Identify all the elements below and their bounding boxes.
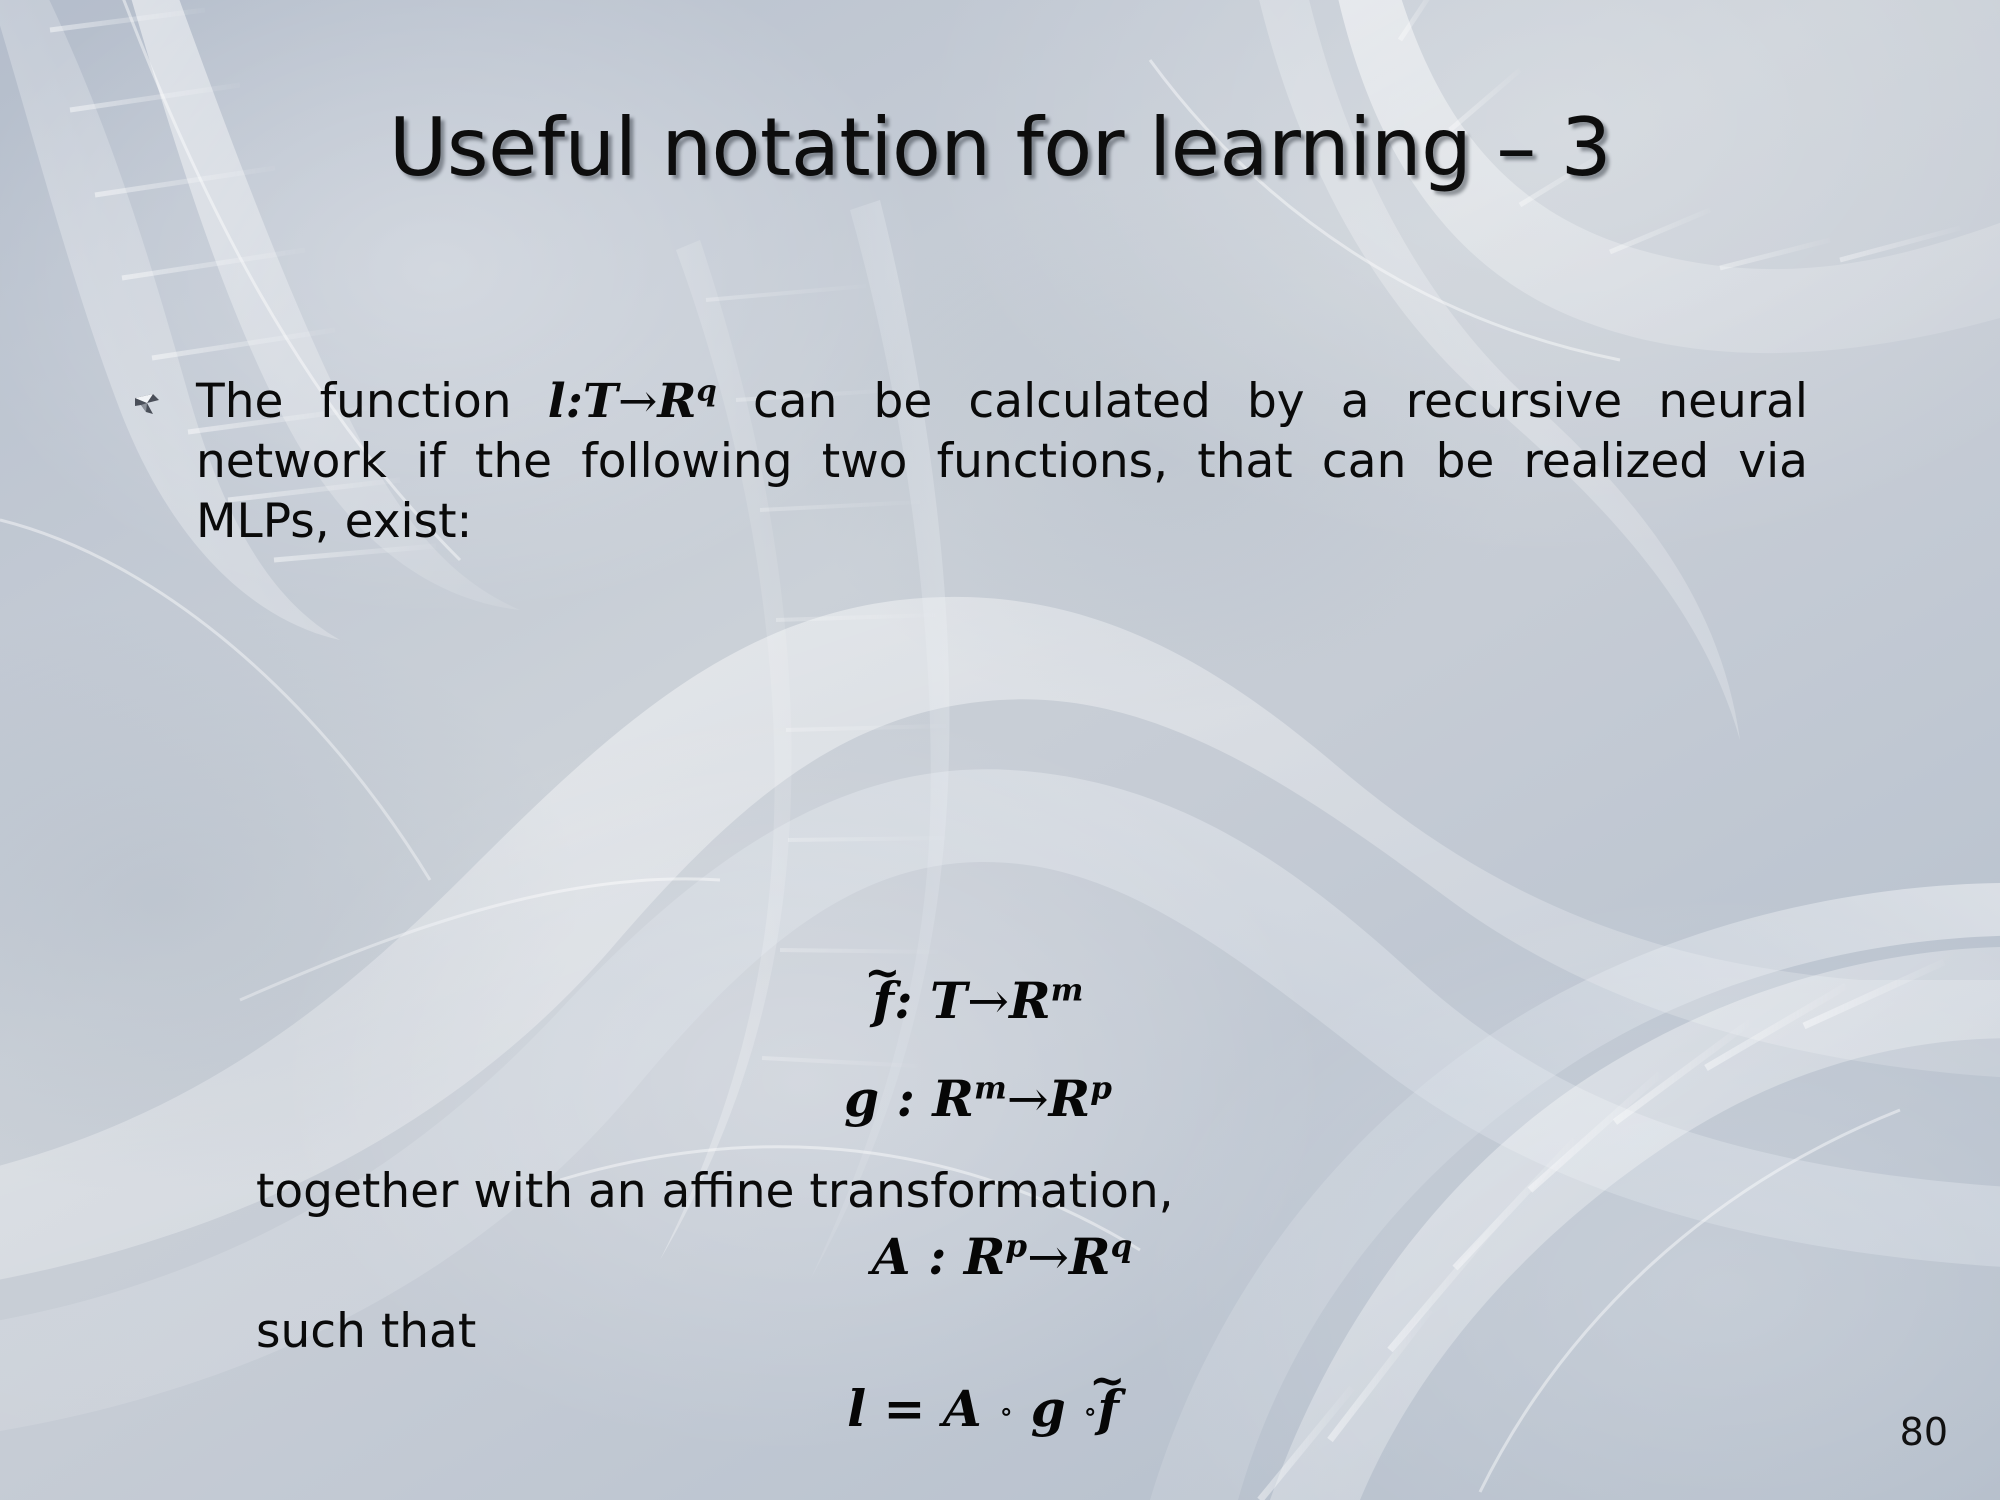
composition-equals: =: [884, 1379, 926, 1438]
formula-codomain: R: [1049, 1069, 1091, 1128]
formula-domain-exponent: p: [1005, 1228, 1027, 1264]
inline-math-lhs: l:T: [548, 374, 618, 429]
composition-term-f-tilde: ~f: [1097, 1384, 1119, 1434]
bullet-item: The function l:T→Rq can be calculated by…: [128, 372, 1828, 552]
text-line-together: together with an affine transformation,: [256, 1162, 1174, 1222]
formula-domain: R: [964, 1227, 1006, 1286]
formula-separator: :: [896, 1069, 914, 1128]
formula-domain: T: [930, 971, 967, 1030]
page-title: Useful notation for learning – 3: [0, 108, 2000, 188]
presentation-slide: Useful notation for learning – 3 The fun…: [0, 0, 2000, 1500]
bullet-paragraph: The function l:T→Rq can be calculated by…: [196, 372, 1808, 552]
page-number: 80: [1900, 1410, 1948, 1454]
paragraph-part-1: The function: [196, 374, 512, 429]
formula-separator: :: [928, 1227, 946, 1286]
formula-symbol: A: [872, 1227, 911, 1286]
formula-codomain-exponent: m: [1051, 972, 1084, 1008]
formula-arrow: →: [967, 972, 1009, 1030]
inline-math-codomain: R: [657, 374, 696, 429]
formula-codomain-exponent: p: [1090, 1070, 1112, 1106]
composition-term-g: g: [1031, 1379, 1066, 1438]
diamond-arrow-bullet-icon: [133, 388, 163, 418]
composition-lhs: l: [847, 1379, 866, 1438]
formula-codomain: R: [1069, 1227, 1111, 1286]
text-line-such-that: such that: [256, 1302, 476, 1362]
formula-g: g : Rm→Rp: [128, 1074, 1828, 1124]
tilde-accent: ~: [1089, 1360, 1125, 1403]
inline-math-l-maps-T-to-Rq: l:T→Rq: [548, 374, 717, 429]
tilde-accent: ~: [864, 952, 900, 995]
formula-domain-exponent: m: [974, 1070, 1007, 1106]
inline-math-arrow: →: [618, 374, 657, 429]
composition-term-a: A: [943, 1379, 982, 1438]
slide-body: The function l:T→Rq can be calculated by…: [128, 372, 1828, 552]
formula-codomain-exponent: q: [1111, 1228, 1133, 1264]
formula-codomain: R: [1009, 971, 1051, 1030]
formula-arrow: →: [1007, 1070, 1049, 1128]
composition-ring-1: ∘: [999, 1394, 1013, 1428]
inline-math-exponent: q: [696, 373, 716, 407]
formula-arrow: →: [1027, 1228, 1069, 1286]
formula-domain: R: [932, 1069, 974, 1128]
formula-composition: l = A ∘ g ∘~f: [128, 1384, 1828, 1434]
f-tilde-symbol: ~f: [873, 976, 895, 1026]
formula-symbol: g: [844, 1069, 879, 1128]
formula-f-tilde: ~f: T→Rm: [128, 976, 1828, 1026]
formula-a: A : Rp→Rq: [128, 1232, 1828, 1282]
